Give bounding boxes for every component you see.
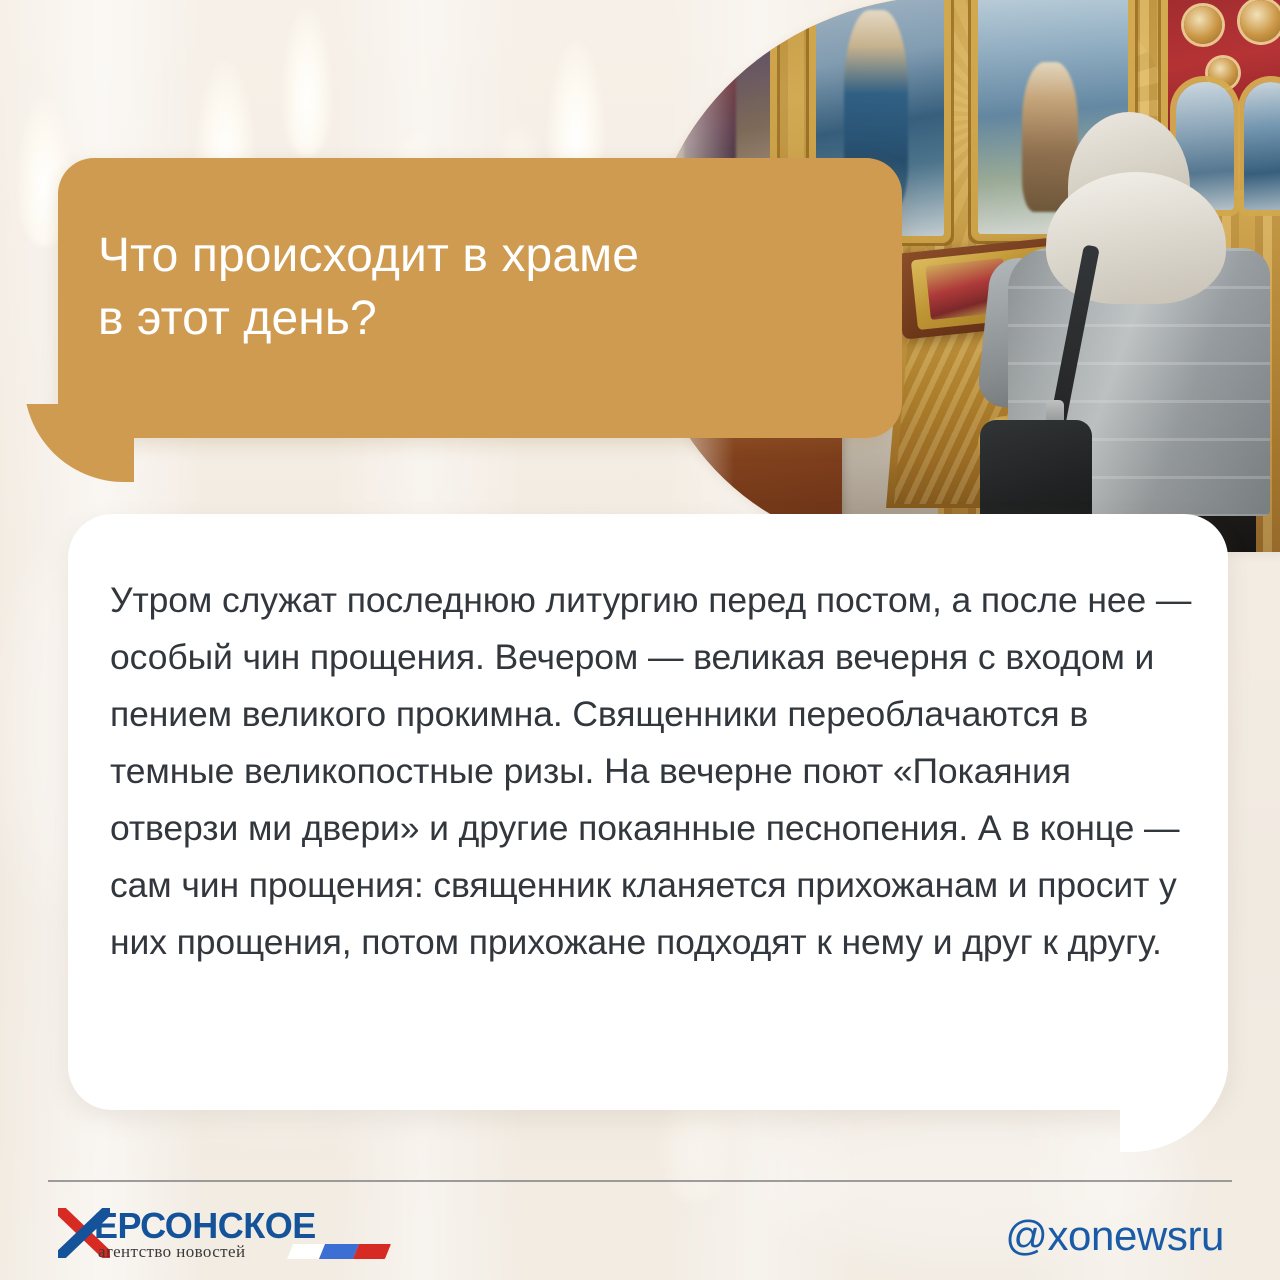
social-handle[interactable]: @xonewsru	[1005, 1212, 1224, 1260]
logo-subtitle: агентство новостей	[98, 1242, 245, 1262]
social-card: Что происходит в храме в этот день? Утро…	[0, 0, 1280, 1280]
footer-divider	[48, 1180, 1232, 1182]
title-bubble-tail	[24, 404, 134, 482]
content-card-tail	[1120, 1080, 1230, 1152]
body-paragraph: Утром служат последнюю литургию перед по…	[110, 572, 1196, 971]
brand-logo[interactable]: ЕРСОНСКОЕ агентство новостей	[58, 1206, 358, 1268]
page-title: Что происходит в храме в этот день?	[98, 224, 888, 351]
flag-stripe-red	[353, 1244, 391, 1259]
tricolor-flag-bar	[287, 1244, 391, 1259]
logo-wordmark: ЕРСОНСКОЕ	[94, 1206, 316, 1246]
